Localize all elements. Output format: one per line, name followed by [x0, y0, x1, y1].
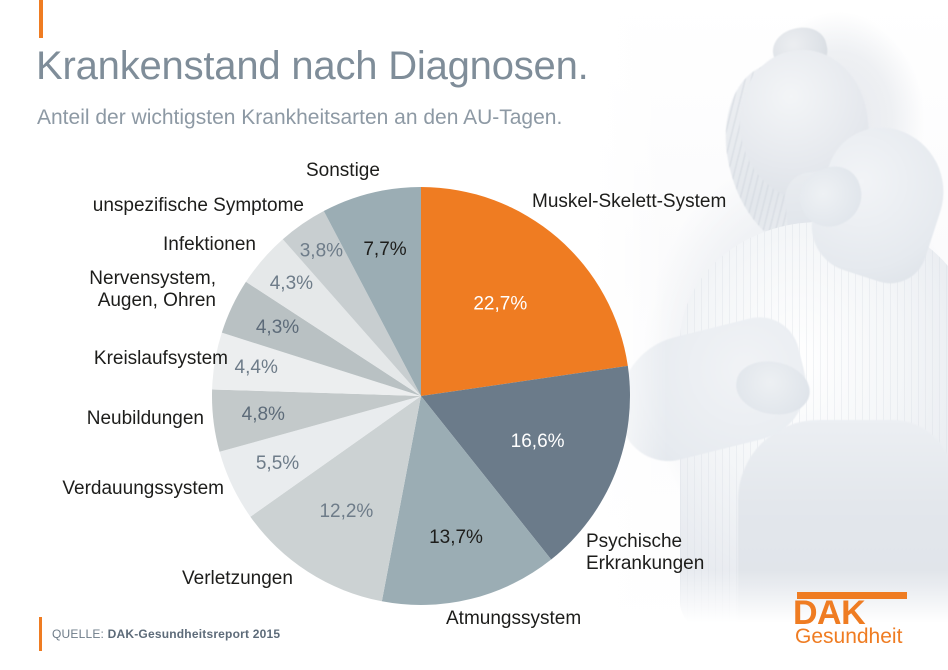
label-unspezifische-symptome: unspezifische Symptome — [24, 195, 304, 217]
pie-slice-value: 4,4% — [235, 357, 278, 378]
label-nervensystem: Nervensystem, Augen, Ohren — [24, 268, 216, 312]
label-muskel-skelett-system: Muskel-Skelett-System — [532, 191, 726, 213]
source-accent-bar — [39, 617, 42, 651]
pie-slice[interactable] — [421, 187, 628, 396]
pie-slice-value: 4,3% — [256, 317, 299, 338]
source-value: DAK-Gesundheitsreport 2015 — [108, 627, 281, 641]
pie-chart: 22,7%16,6%13,7%12,2%5,5%4,8%4,4%4,3%4,3%… — [211, 186, 631, 606]
source-prefix: QUELLE: — [52, 627, 104, 641]
page-title: Krankenstand nach Diagnosen. — [36, 44, 589, 89]
pie-slice-value: 3,8% — [300, 240, 343, 261]
label-neubildungen: Neubildungen — [24, 408, 204, 430]
pie-chart-svg: 22,7%16,6%13,7%12,2%5,5%4,8%4,4%4,3%4,3%… — [211, 186, 631, 606]
dak-logo: DAK Gesundheit — [793, 592, 919, 650]
pie-slice-value: 4,3% — [270, 273, 313, 294]
label-atmungssystem: Atmungssystem — [446, 608, 581, 630]
infographic-canvas: Krankenstand nach Diagnosen. Anteil der … — [0, 0, 948, 670]
pie-slice-value: 5,5% — [256, 453, 299, 474]
label-verletzungen: Verletzungen — [182, 568, 293, 590]
pie-slice-value: 13,7% — [429, 527, 483, 548]
label-sonstige: Sonstige — [306, 160, 380, 182]
pie-slice-value: 16,6% — [511, 431, 565, 452]
label-infektionen: Infektionen — [24, 234, 256, 256]
label-verdauungssystem: Verdauungssystem — [24, 478, 224, 500]
logo-tagline: Gesundheit — [795, 626, 902, 648]
pie-slice-value: 12,2% — [319, 501, 373, 522]
label-psychische-erkrankungen: Psychische Erkrankungen — [586, 531, 704, 575]
pie-slice-value: 7,7% — [363, 239, 406, 260]
label-kreislaufsystem: Kreislaufsystem — [24, 348, 228, 370]
source-line: QUELLE: DAK-Gesundheitsreport 2015 — [52, 627, 280, 641]
pie-slice-value: 4,8% — [242, 404, 285, 425]
pie-slice-value: 22,7% — [473, 293, 527, 314]
header-accent-bar — [39, 0, 43, 38]
page-subtitle: Anteil der wichtigsten Krankheitsarten a… — [37, 106, 562, 130]
